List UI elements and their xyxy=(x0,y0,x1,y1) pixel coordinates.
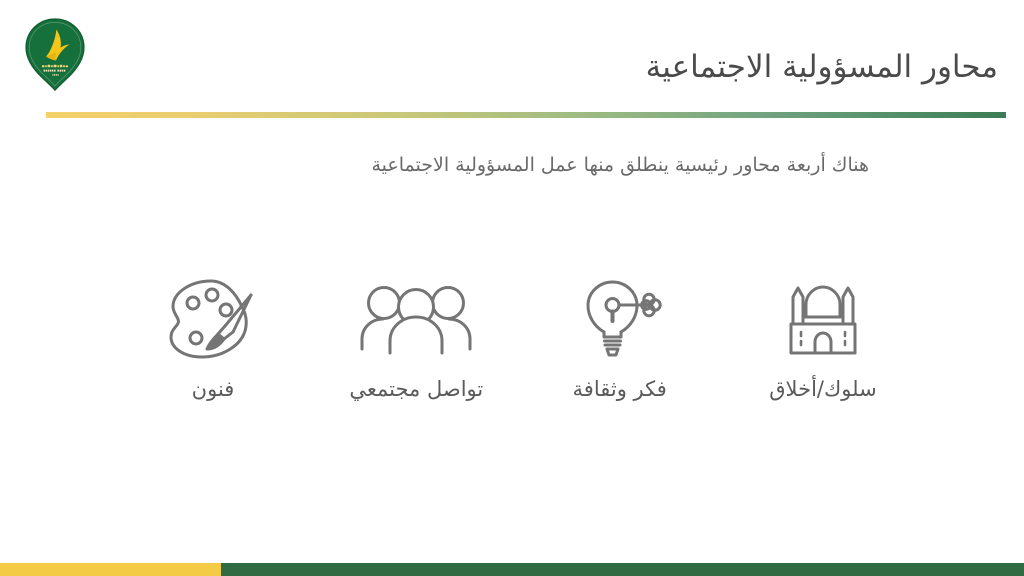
pillar-label: فنون xyxy=(192,376,235,403)
pillar-arts: فنون xyxy=(118,276,308,403)
footer-accent-yellow xyxy=(0,563,221,576)
pillar-label: فكر وثقافة xyxy=(573,376,667,403)
pillar-community: تواصل مجتمعي xyxy=(321,276,511,403)
title-divider-gradient xyxy=(46,112,1006,118)
community-people-icon xyxy=(357,276,475,362)
page-title: محاور المسؤولية الاجتماعية xyxy=(278,48,998,87)
pillar-ethics: سلوك/أخلاق xyxy=(728,276,918,403)
khulud-club-logo xyxy=(24,17,86,92)
pillar-label: تواصل مجتمعي xyxy=(349,376,483,403)
footer-accent-green xyxy=(221,563,1024,576)
slide-canvas: محاور المسؤولية الاجتماعية هناك أربعة مح… xyxy=(0,0,1024,576)
pillars-row: سلوك/أخلاق xyxy=(118,276,918,436)
pillar-thought-culture: فكر وثقافة xyxy=(525,276,715,403)
pillar-label: سلوك/أخلاق xyxy=(769,376,876,403)
mosque-icon xyxy=(780,276,866,362)
art-palette-icon xyxy=(163,276,263,362)
lightbulb-key-icon xyxy=(574,276,666,362)
logo-latin-text xyxy=(44,70,66,72)
subtitle-text: هناك أربعة محاور رئيسية ينطلق منها عمل ا… xyxy=(159,152,869,180)
footer-accent-bar xyxy=(0,563,1024,576)
